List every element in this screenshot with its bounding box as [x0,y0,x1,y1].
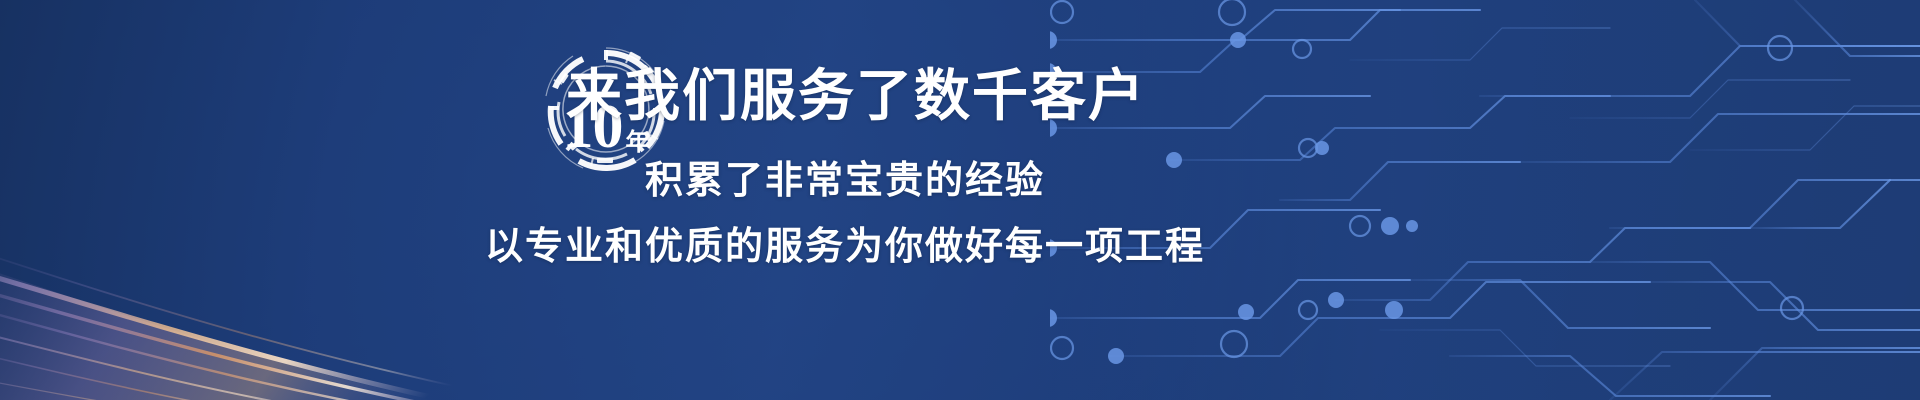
banner-headline: 来我们服务了数千客户 [566,68,1146,124]
banner-subline-2: 以专业和优质的服务为你做好每一项工程 [485,228,1205,266]
circuit-pattern-decoration [1050,0,1920,400]
promo-banner: 10 年 来我们服务了数千客户 积累了非常宝贵的经验 以专业和优质的服务为你做好… [0,0,1920,400]
banner-subline-1: 积累了非常宝贵的经验 [645,162,1045,200]
circuit-node-rings [1051,0,1803,359]
badge-unit: 年 [626,131,650,155]
